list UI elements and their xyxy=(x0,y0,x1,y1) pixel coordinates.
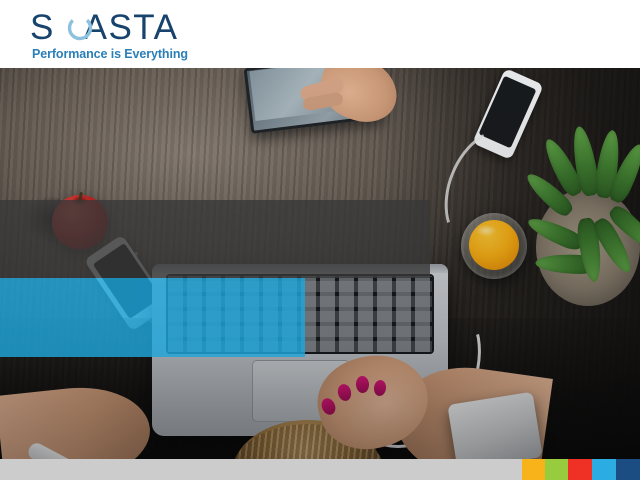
presentation-slide: Are Your applications Ready for Peak Loa… xyxy=(0,0,640,480)
logo-tagline: Performance is Everything xyxy=(32,47,188,61)
color-block-light-blue xyxy=(592,459,616,480)
title-overlay-band xyxy=(0,200,430,278)
color-block-dark-blue xyxy=(616,459,640,480)
soasta-logo: SOASTA Performance is Everything xyxy=(30,9,235,61)
brand-color-bar xyxy=(522,459,640,480)
logo-wordmark-prefix: S xyxy=(30,8,55,47)
soasta-o-arc-icon xyxy=(67,15,93,41)
slide-header: SOASTA Performance is Everything xyxy=(0,0,640,68)
logo-wordmark-suffix: ASTA xyxy=(84,8,179,47)
color-block-red xyxy=(568,459,592,480)
speaker-overlay-band xyxy=(0,278,305,357)
logo-wordmark: SOASTA xyxy=(30,9,178,47)
color-block-amber xyxy=(522,459,545,480)
color-block-green xyxy=(545,459,568,480)
